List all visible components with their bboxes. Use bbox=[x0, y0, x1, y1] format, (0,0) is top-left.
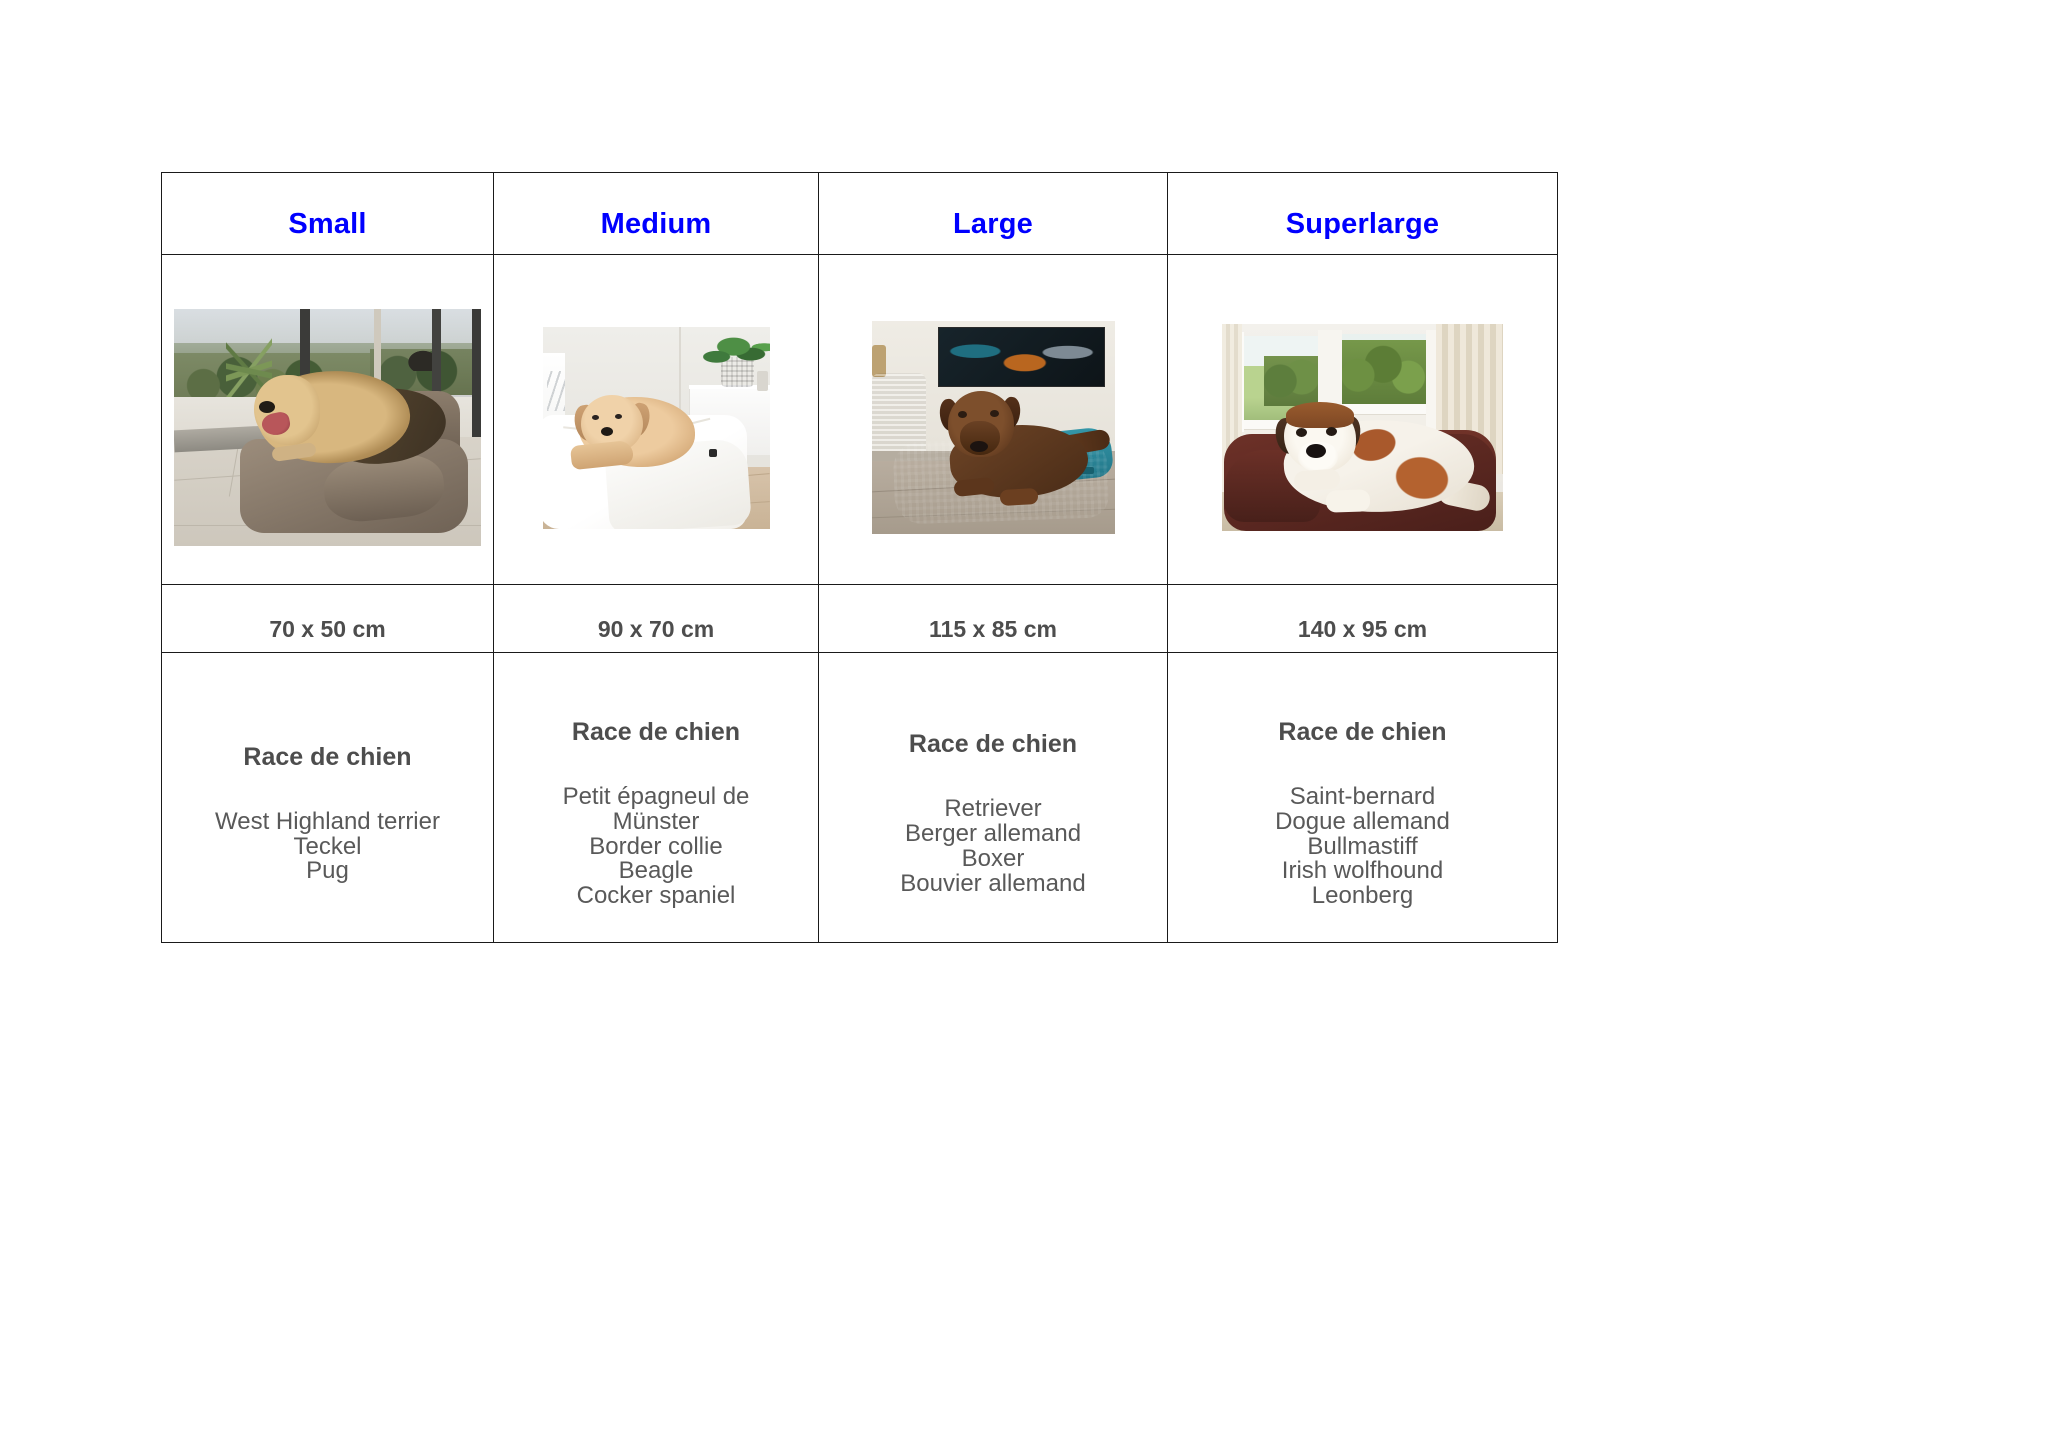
breed-item: Petit épagneul de bbox=[494, 785, 818, 810]
breed-list-medium: Petit épagneul de Münster Border collie … bbox=[494, 785, 818, 910]
breed-item: Cocker spaniel bbox=[494, 884, 818, 909]
breed-item: West Highland terrier bbox=[162, 810, 493, 835]
breed-item: Beagle bbox=[494, 859, 818, 884]
breed-list-superlarge: Saint-bernard Dogue allemand Bullmastiff… bbox=[1168, 785, 1557, 910]
breed-cell-medium: Race de chien Petit épagneul de Münster … bbox=[494, 653, 819, 943]
dog-bed-size-table: Small Medium Large Superlarge bbox=[161, 172, 1558, 943]
size-label-small: Small bbox=[162, 188, 493, 239]
header-cell-medium: Medium bbox=[494, 173, 819, 255]
photo-medium-dog-bed bbox=[543, 327, 770, 529]
breed-item: Retriever bbox=[819, 797, 1167, 822]
photo-large-dog-bed bbox=[872, 321, 1115, 534]
photo-superlarge-dog-bed bbox=[1222, 324, 1503, 531]
breed-item: Bouvier allemand bbox=[819, 872, 1167, 897]
size-label-large: Large bbox=[819, 188, 1167, 239]
dimension-cell-medium: 90 x 70 cm bbox=[494, 585, 819, 653]
dimension-small: 70 x 50 cm bbox=[162, 594, 493, 643]
breed-item: Münster bbox=[494, 810, 818, 835]
size-label-medium: Medium bbox=[494, 188, 818, 239]
breed-cell-large: Race de chien Retriever Berger allemand … bbox=[819, 653, 1168, 943]
breed-item: Pug bbox=[162, 859, 493, 884]
breed-list-large: Retriever Berger allemand Boxer Bouvier … bbox=[819, 797, 1167, 897]
breed-cell-small: Race de chien West Highland terrier Teck… bbox=[162, 653, 494, 943]
table-dimension-row: 70 x 50 cm 90 x 70 cm 115 x 85 cm 140 x … bbox=[162, 585, 1558, 653]
document-page: Small Medium Large Superlarge bbox=[0, 0, 2048, 1448]
header-cell-superlarge: Superlarge bbox=[1168, 173, 1558, 255]
breed-cell-superlarge: Race de chien Saint-bernard Dogue allema… bbox=[1168, 653, 1558, 943]
image-cell-superlarge bbox=[1168, 255, 1558, 585]
size-label-superlarge: Superlarge bbox=[1168, 188, 1557, 239]
dimension-superlarge: 140 x 95 cm bbox=[1168, 594, 1557, 643]
breed-heading-small: Race de chien bbox=[162, 743, 493, 772]
dimension-cell-large: 115 x 85 cm bbox=[819, 585, 1168, 653]
image-cell-large bbox=[819, 255, 1168, 585]
photo-small-dog-bed bbox=[174, 309, 481, 546]
breed-heading-medium: Race de chien bbox=[494, 718, 818, 747]
breed-item: Boxer bbox=[819, 847, 1167, 872]
dimension-cell-superlarge: 140 x 95 cm bbox=[1168, 585, 1558, 653]
breed-item: Teckel bbox=[162, 835, 493, 860]
table-breed-row: Race de chien West Highland terrier Teck… bbox=[162, 653, 1558, 943]
breed-item: Bullmastiff bbox=[1168, 835, 1557, 860]
dimension-cell-small: 70 x 50 cm bbox=[162, 585, 494, 653]
table-image-row bbox=[162, 255, 1558, 585]
breed-item: Irish wolfhound bbox=[1168, 859, 1557, 884]
header-cell-large: Large bbox=[819, 173, 1168, 255]
image-cell-medium bbox=[494, 255, 819, 585]
breed-item: Leonberg bbox=[1168, 884, 1557, 909]
breed-heading-large: Race de chien bbox=[819, 730, 1167, 759]
header-cell-small: Small bbox=[162, 173, 494, 255]
breed-item: Border collie bbox=[494, 835, 818, 860]
breed-item: Dogue allemand bbox=[1168, 810, 1557, 835]
table-header-row: Small Medium Large Superlarge bbox=[162, 173, 1558, 255]
breed-heading-superlarge: Race de chien bbox=[1168, 718, 1557, 747]
image-cell-small bbox=[162, 255, 494, 585]
dimension-large: 115 x 85 cm bbox=[819, 594, 1167, 643]
breed-item: Saint-bernard bbox=[1168, 785, 1557, 810]
breed-list-small: West Highland terrier Teckel Pug bbox=[162, 810, 493, 885]
breed-item: Berger allemand bbox=[819, 822, 1167, 847]
dimension-medium: 90 x 70 cm bbox=[494, 594, 818, 643]
